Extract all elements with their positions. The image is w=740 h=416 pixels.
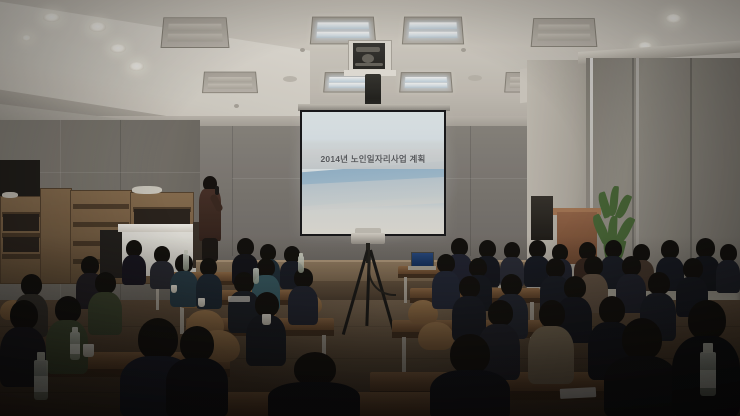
handout-paper (560, 387, 596, 399)
shelf-top-object (132, 186, 162, 194)
bottle-label (700, 370, 716, 388)
audience-member (288, 268, 318, 324)
ceiling-sensor (234, 104, 239, 108)
ceiling-troffer (202, 72, 258, 94)
water-bottle (253, 268, 259, 284)
ceiling-vent (283, 76, 297, 82)
ceiling-sensor (461, 48, 466, 52)
shelf-unit (40, 188, 72, 284)
table-leg (402, 337, 406, 373)
table-leg (404, 277, 407, 303)
audience-member (430, 334, 510, 416)
ceiling-vent (468, 75, 482, 81)
paper-cup (262, 314, 271, 325)
slide-title-band: 2014년 노인일자리사업 계획 (302, 149, 444, 170)
projection-screen: 2014년 노인일자리사업 계획 (300, 110, 446, 236)
presenter (196, 176, 226, 262)
bottle-cap (299, 253, 303, 257)
downlight-icon (89, 22, 106, 32)
bottle-label (34, 376, 48, 392)
bottle-cap (72, 327, 78, 333)
ceiling-troffer (531, 18, 598, 47)
piano-lid (118, 224, 204, 232)
bottle-cap (703, 343, 713, 353)
water-bottle (298, 256, 304, 273)
bottle-cap (37, 352, 45, 361)
downlight-icon (666, 14, 681, 23)
audience-member (716, 244, 740, 292)
audience-member (88, 272, 122, 334)
paper-cup (171, 285, 177, 293)
downlight-icon (129, 62, 144, 71)
bottle-label (70, 344, 80, 354)
audience-member (604, 318, 678, 416)
shelf-unit (0, 196, 42, 284)
ceiling-projector (353, 43, 385, 69)
audience-member (46, 296, 88, 372)
slide-title-text: 2014년 노인일자리사업 계획 (320, 153, 425, 165)
wall-seam (232, 126, 233, 256)
floor-speaker-icon (531, 196, 553, 240)
audience-member (166, 326, 228, 416)
audience-member (122, 240, 146, 284)
ceiling-troffer (402, 17, 464, 45)
ceiling-sensor (300, 48, 305, 52)
downlight-icon (43, 13, 60, 22)
handout-paper (228, 296, 250, 302)
audience-member (268, 352, 360, 416)
photo-scene: 2014년 노인일자리사업 계획 (0, 0, 740, 416)
microphone-icon (215, 186, 219, 195)
wall-seam (470, 126, 471, 256)
ceiling-troffer (161, 17, 230, 48)
laptop-base[interactable] (408, 266, 436, 270)
bottle-cap (184, 250, 188, 254)
shelf-top-object (2, 192, 18, 198)
ceiling-troffer (399, 72, 453, 92)
audience-member (528, 300, 574, 382)
slide-surface: 2014년 노인일자리사업 계획 (302, 112, 444, 234)
water-bottle (183, 253, 189, 271)
downlight-icon (110, 44, 126, 53)
paper-cup (83, 344, 94, 357)
wall-speaker-icon (365, 74, 381, 108)
paper-cup (198, 298, 205, 307)
downlight-icon (22, 35, 31, 41)
